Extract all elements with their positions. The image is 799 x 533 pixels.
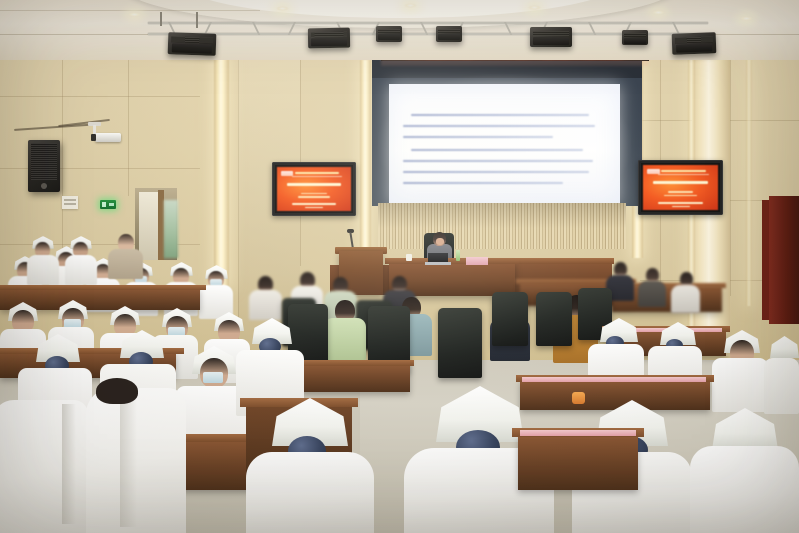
water-bottle [456,250,460,261]
chair [536,292,572,346]
nurse-hair [96,378,138,404]
downlight [528,5,541,10]
conference-hall-photo: 劳动教育宣传月劳模工匠精神进校园 [0,0,799,533]
wall-seam [300,56,301,266]
head-table-right-top [508,258,614,264]
desk-light-strip [522,377,706,382]
wall-speaker [28,140,60,192]
right-door [769,196,799,324]
side-monitor-left [272,162,356,216]
nurse-body [764,358,799,414]
chair [438,308,482,378]
uniform-fold [62,404,76,524]
downlight [128,12,141,17]
desk-light-strip [520,430,636,436]
wall-seam [730,56,731,296]
attendee-body [249,290,282,320]
attendee-body [324,318,366,360]
hanging-speaker [168,32,217,56]
side-monitor-right [638,160,723,215]
presenter-face [436,238,444,245]
face-mask [203,372,223,383]
wall-seam [128,56,129,196]
attendee-body [671,285,700,313]
chair [492,292,528,346]
hanging-light [376,26,402,42]
name-placard [466,257,488,265]
wainscot-shadow [378,203,626,249]
camera-lens [91,134,96,141]
doorway-interior [139,192,158,260]
hanging-speaker [672,32,717,55]
projection-screen [389,84,620,206]
desk [518,436,638,490]
nurse-body [690,446,799,533]
nurse-body [712,358,768,412]
light-column [214,56,229,286]
ceiling-seam [0,10,260,11]
uniform-fold [120,392,137,527]
desk-top [0,285,206,290]
av-wall-plate [62,196,78,209]
nurse-body [65,255,97,285]
light-column [360,60,371,258]
nurse-body [27,255,59,285]
hanging-speaker [530,27,572,47]
laptop-base [425,262,451,265]
hanging-light [622,30,648,45]
cup [406,254,412,261]
light-column [746,56,752,306]
attendee-body [638,281,666,307]
security-camera-icon [95,133,121,142]
door-glass [164,200,178,258]
hanging-speaker [308,28,350,49]
hanging-light [436,26,462,42]
downlight [652,10,665,15]
desk-object [572,392,585,404]
downlight [276,6,289,11]
nurse-body [246,452,374,533]
downlight [740,16,753,21]
truss-hanger [196,12,198,28]
wall-seam [0,96,200,97]
attendee-body [108,249,143,279]
desk [520,380,710,410]
downlight [404,3,417,8]
truss-hanger [160,12,162,26]
exit-sign-icon [100,200,116,209]
